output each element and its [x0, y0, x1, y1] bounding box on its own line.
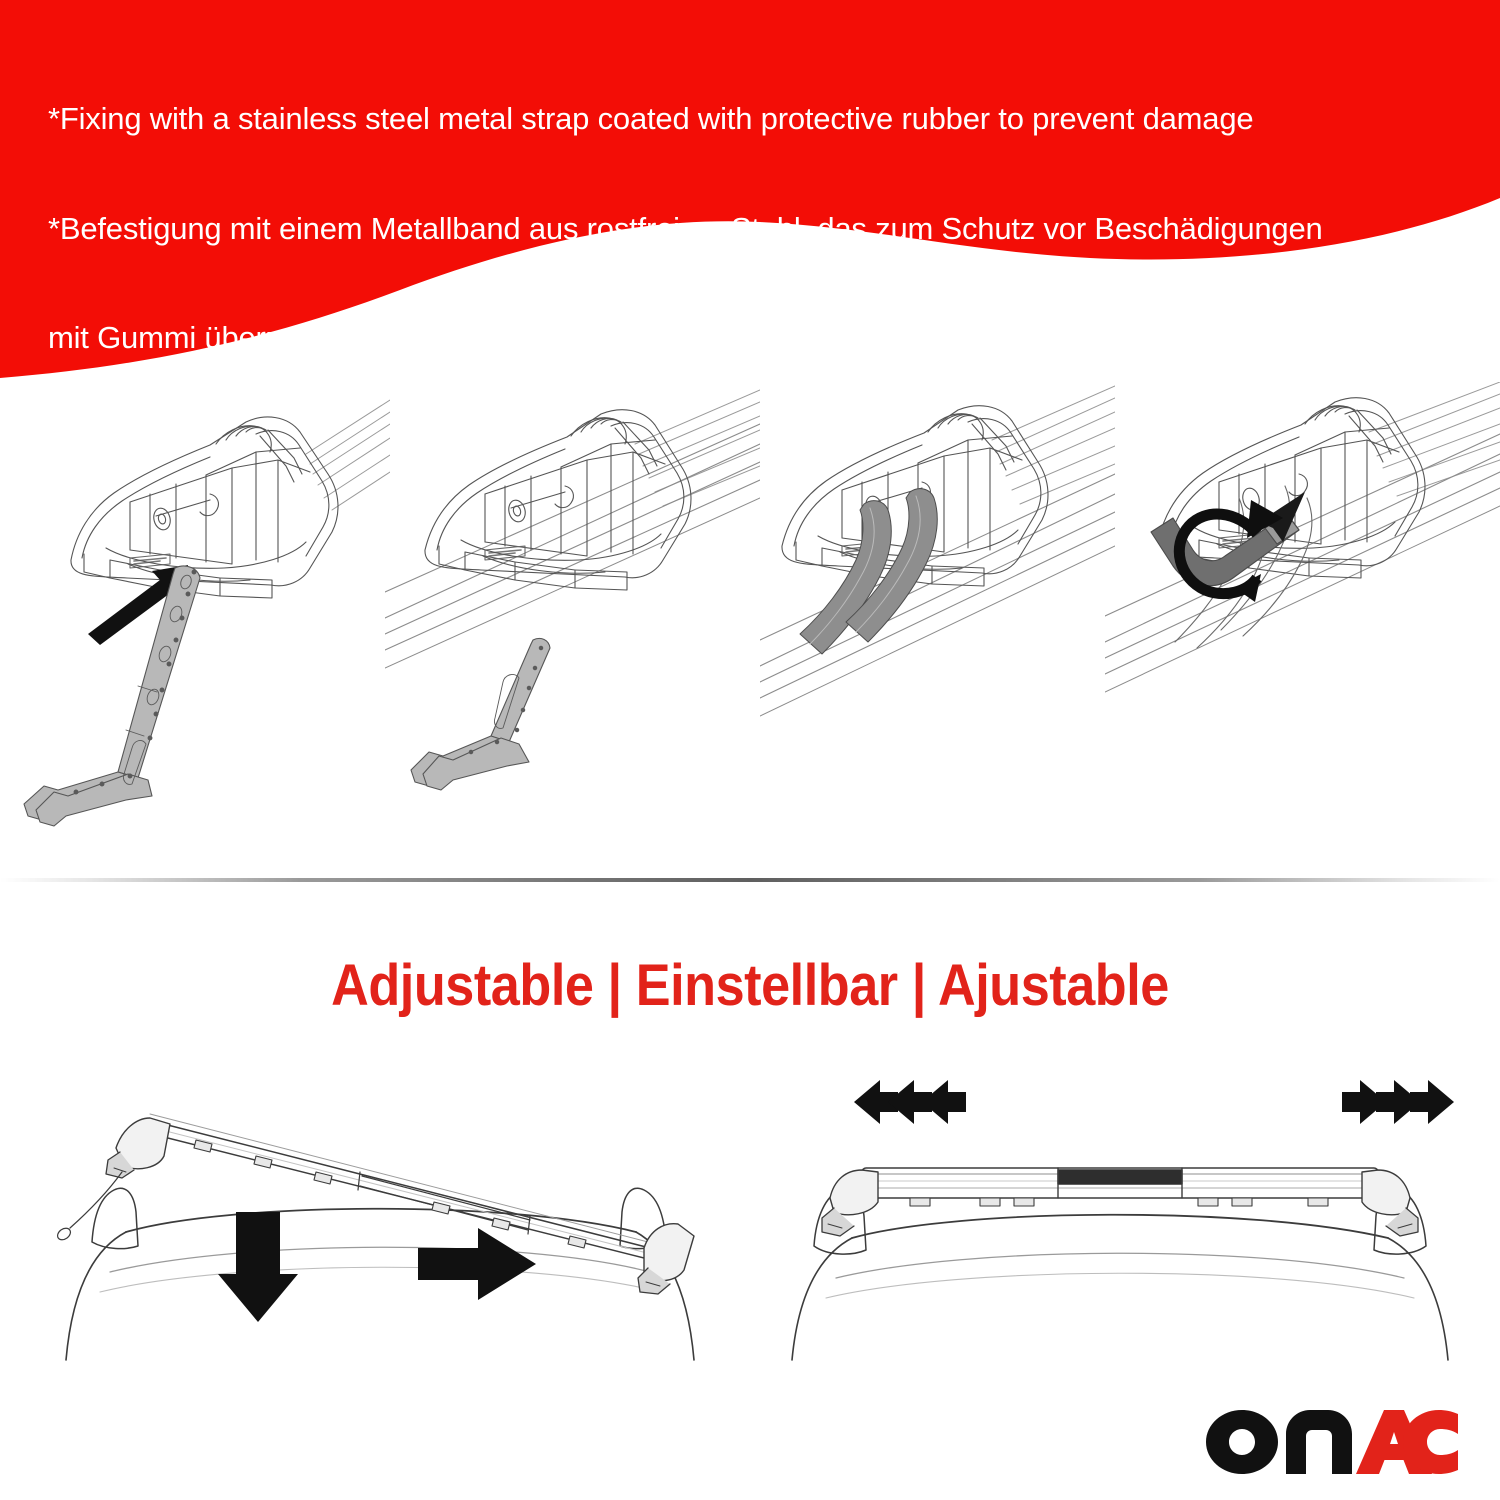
omac-logo	[1206, 1410, 1458, 1472]
down-arrow	[218, 1212, 298, 1322]
logo-letter-o	[1206, 1410, 1278, 1474]
header-line-en: *Fixing with a stainless steel metal str…	[48, 101, 1468, 138]
triple-left-arrow	[854, 1080, 966, 1124]
adjustable-heading: Adjustable | Einstellbar | Ajustable	[75, 952, 1425, 1019]
step-4-illustration	[1105, 382, 1500, 862]
car-roof	[792, 1215, 1448, 1360]
lower-and-slide-illustration	[30, 1060, 770, 1390]
roof-rail	[760, 474, 1115, 716]
step-1-insert-strap-into-foot	[10, 382, 390, 862]
omac-logo-mark	[1206, 1410, 1458, 1474]
roof-rail	[385, 424, 760, 668]
step-1-illustration	[10, 382, 390, 862]
rubber-coated-steel-strap	[411, 638, 550, 790]
logo-letter-m	[1286, 1410, 1352, 1474]
roof-rack-foot	[71, 417, 338, 598]
section-divider	[0, 872, 1500, 888]
crossbar	[306, 400, 390, 510]
rubber-coated-steel-strap	[800, 489, 937, 654]
adjust-diagram-extend-width	[770, 1060, 1470, 1390]
crossbar	[992, 386, 1115, 504]
step-3-wrap-strap-around-rail	[760, 382, 1115, 862]
roof-rail	[1105, 434, 1500, 692]
header-description-text: *Fixing with a stainless steel metal str…	[48, 28, 1468, 400]
header-line-de-1: *Befestigung mit einem Metallband aus ro…	[48, 211, 1468, 248]
roof-rack-foot	[1159, 398, 1425, 578]
extend-width-illustration	[770, 1060, 1470, 1390]
installation-steps-section	[0, 382, 1500, 862]
car-roof	[66, 1209, 694, 1360]
right-arrow	[418, 1228, 536, 1300]
header-banner: *Fixing with a stainless steel metal str…	[0, 0, 1500, 400]
header-line-de-2: mit Gummi überzogen ist	[48, 320, 1468, 357]
step-2-position-foot-on-roof-rail	[385, 382, 760, 862]
step-3-illustration	[760, 382, 1115, 862]
crossbar	[1369, 382, 1500, 496]
adjust-diagram-lower-and-slide	[30, 1060, 770, 1390]
step-4-tighten-bolt-with-allen-key	[1105, 382, 1500, 862]
adjustable-diagrams-section	[0, 1060, 1500, 1390]
divider-line	[0, 872, 1500, 888]
step-2-illustration	[385, 382, 760, 862]
triple-right-arrow	[1342, 1080, 1454, 1124]
rubber-coated-steel-strap	[24, 566, 200, 826]
